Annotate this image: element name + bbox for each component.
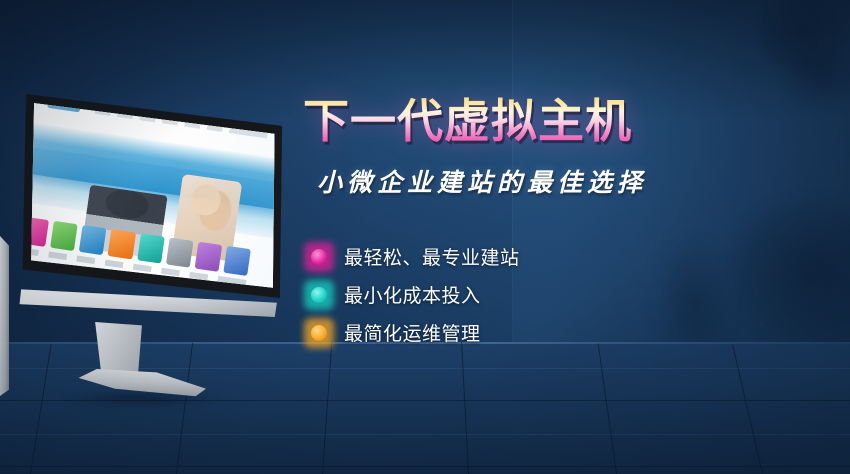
- page-title: 下一代虚拟主机: [303, 96, 703, 147]
- list-item: 最轻松、最专业建站: [308, 239, 703, 275]
- bullet-dot-core: [311, 249, 327, 265]
- feature-list: 最轻松、最专业建站 最小化成本投入 最简化运维管理: [308, 239, 703, 351]
- bullet-dot-core: [311, 325, 327, 341]
- list-item-label: 最轻松、最专业建站: [344, 243, 520, 270]
- bullet-dot-orange: [308, 322, 330, 344]
- page-subtitle: 小微企业建站的最佳选择: [317, 163, 703, 199]
- bullet-dot-core: [311, 287, 327, 303]
- list-item: 最简化运维管理: [308, 315, 703, 351]
- promo-banner: 下一代虚拟主机 小微企业建站的最佳选择 最轻松、最专业建站 最小化成本投入: [0, 0, 850, 474]
- bullet-dot-magenta: [308, 246, 330, 268]
- list-item-label: 最小化成本投入: [344, 281, 481, 308]
- banner-copy: 下一代虚拟主机 小微企业建站的最佳选择 最轻松、最专业建站 最小化成本投入: [303, 96, 703, 353]
- list-item-label: 最简化运维管理: [344, 319, 481, 346]
- list-item: 最小化成本投入: [308, 277, 703, 313]
- bullet-dot-teal: [308, 284, 330, 306]
